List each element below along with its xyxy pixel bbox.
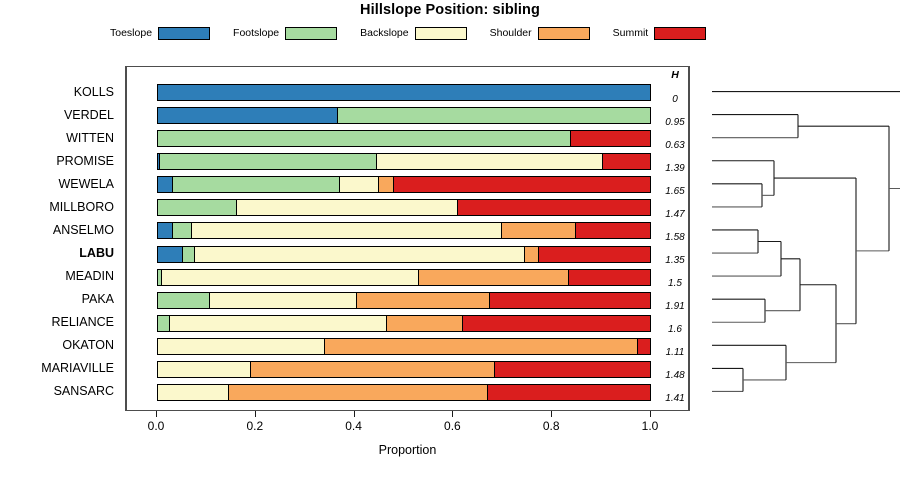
x-axis-tick-label: 0.8 — [531, 419, 571, 433]
x-axis-title: Proportion — [125, 443, 690, 457]
row-label-promise: PROMISE — [0, 154, 120, 168]
legend-item-footslope: Footslope — [233, 27, 337, 40]
bar-segment-summit — [394, 177, 650, 192]
h-value-sansarc: 1.41 — [660, 393, 690, 404]
row-label-kolls: KOLLS — [0, 85, 120, 99]
legend-swatch — [285, 27, 337, 40]
bar-segment-toeslope — [158, 177, 173, 192]
bar-kolls — [157, 84, 651, 101]
legend-item-summit: Summit — [613, 27, 707, 40]
bar-segment-shoulder — [251, 362, 495, 377]
bar-segment-footslope — [183, 247, 195, 262]
bar-segment-shoulder — [325, 339, 637, 354]
x-axis-tick — [452, 411, 453, 417]
bar-segment-shoulder — [379, 177, 394, 192]
legend-swatch — [158, 27, 210, 40]
legend-label: Shoulder — [490, 27, 532, 39]
x-axis-tick — [156, 411, 157, 417]
bar-promise — [157, 153, 651, 170]
bar-reliance — [157, 315, 651, 332]
dendrogram-svg — [690, 60, 900, 415]
bar-segment-backslope — [377, 154, 603, 169]
bar-millboro — [157, 199, 651, 216]
row-label-labu: LABU — [0, 246, 120, 260]
bar-segment-shoulder — [357, 293, 490, 308]
bar-segment-summit — [576, 223, 650, 238]
bar-segment-backslope — [340, 177, 379, 192]
h-value-labu: 1.35 — [660, 255, 690, 266]
x-axis-tick — [255, 411, 256, 417]
bar-segment-summit — [638, 339, 650, 354]
bar-paka — [157, 292, 651, 309]
x-axis-tick-label: 1.0 — [630, 419, 670, 433]
h-value-verdel: 0.95 — [660, 117, 690, 128]
bar-segment-backslope — [158, 362, 251, 377]
bar-segment-footslope — [160, 154, 376, 169]
bar-segment-footslope — [173, 177, 340, 192]
bar-segment-footslope — [338, 108, 650, 123]
h-value-anselmo: 1.58 — [660, 232, 690, 243]
row-label-anselmo: ANSELMO — [0, 223, 120, 237]
bar-segment-shoulder — [525, 247, 540, 262]
x-axis-tick-label: 0.2 — [235, 419, 275, 433]
bar-segment-toeslope — [158, 85, 650, 100]
bar-segment-footslope — [158, 293, 210, 308]
legend-swatch — [538, 27, 590, 40]
bar-segment-toeslope — [158, 108, 338, 123]
h-value-paka: 1.91 — [660, 301, 690, 312]
row-label-witten: WITTEN — [0, 131, 120, 145]
legend-swatch — [415, 27, 467, 40]
row-label-meadin: MEADIN — [0, 269, 120, 283]
bar-mariaville — [157, 361, 651, 378]
h-value-millboro: 1.47 — [660, 209, 690, 220]
bar-okaton — [157, 338, 651, 355]
bar-meadin — [157, 269, 651, 286]
bar-segment-backslope — [192, 223, 502, 238]
h-value-promise: 1.39 — [660, 163, 690, 174]
h-value-witten: 0.63 — [660, 140, 690, 151]
bar-segment-summit — [488, 385, 650, 400]
bar-segment-backslope — [158, 339, 325, 354]
bar-segment-backslope — [162, 270, 419, 285]
bar-segment-summit — [490, 293, 650, 308]
row-label-paka: PAKA — [0, 292, 120, 306]
bar-segment-summit — [603, 154, 650, 169]
row-label-reliance: RELIANCE — [0, 315, 120, 329]
dendrogram — [690, 60, 900, 415]
h-value-okaton: 1.11 — [660, 347, 690, 358]
row-label-mariaville: MARIAVILLE — [0, 361, 120, 375]
x-axis-tick — [650, 411, 651, 417]
bar-segment-backslope — [210, 293, 358, 308]
bar-segment-shoulder — [419, 270, 569, 285]
h-value-wewela: 1.65 — [660, 186, 690, 197]
row-label-verdel: VERDEL — [0, 108, 120, 122]
x-axis-tick-label: 0.6 — [432, 419, 472, 433]
h-value-meadin: 1.5 — [660, 278, 690, 289]
bar-segment-summit — [571, 131, 650, 146]
h-column-header: H — [660, 70, 690, 81]
legend-label: Backslope — [360, 27, 408, 39]
bar-segment-summit — [569, 270, 650, 285]
x-axis-tick — [354, 411, 355, 417]
bar-segment-footslope — [158, 200, 237, 215]
row-label-wewela: WEWELA — [0, 177, 120, 191]
bar-segment-summit — [458, 200, 650, 215]
legend-label: Toeslope — [110, 27, 152, 39]
bar-anselmo — [157, 222, 651, 239]
chart-legend: ToeslopeFootslopeBackslopeShoulderSummit — [110, 24, 790, 42]
bar-segment-summit — [539, 247, 650, 262]
bar-segment-shoulder — [229, 385, 487, 400]
bar-segment-backslope — [170, 316, 386, 331]
bar-segment-footslope — [158, 131, 571, 146]
x-axis-tick-label: 0.0 — [136, 419, 176, 433]
x-axis-tick-label: 0.4 — [334, 419, 374, 433]
page-title: Hillslope Position: sibling — [0, 2, 900, 18]
bar-segment-footslope — [158, 316, 170, 331]
row-label-millboro: MILLBORO — [0, 200, 120, 214]
bar-segment-shoulder — [502, 223, 576, 238]
bar-verdel — [157, 107, 651, 124]
bar-segment-summit — [463, 316, 650, 331]
legend-swatch — [654, 27, 706, 40]
x-axis: 0.00.20.40.60.81.0 — [125, 411, 690, 441]
legend-item-toeslope: Toeslope — [110, 27, 210, 40]
bar-sansarc — [157, 384, 651, 401]
bar-segment-toeslope — [158, 247, 183, 262]
bar-segment-summit — [495, 362, 650, 377]
row-label-okaton: OKATON — [0, 338, 120, 352]
legend-item-shoulder: Shoulder — [490, 27, 590, 40]
h-value-mariaville: 1.48 — [660, 370, 690, 381]
row-label-column: KOLLSVERDELWITTENPROMISEWEWELAMILLBOROAN… — [0, 66, 120, 411]
bar-labu — [157, 246, 651, 263]
bar-segment-shoulder — [387, 316, 463, 331]
bar-witten — [157, 130, 651, 147]
bar-segment-backslope — [237, 200, 458, 215]
x-axis-tick — [551, 411, 552, 417]
legend-item-backslope: Backslope — [360, 27, 466, 40]
h-value-kolls: 0 — [660, 94, 690, 105]
h-column: H00.950.631.391.651.471.581.351.51.911.6… — [660, 66, 690, 411]
h-value-reliance: 1.6 — [660, 324, 690, 335]
legend-label: Summit — [613, 27, 649, 39]
stacked-bars — [126, 67, 689, 410]
row-label-sansarc: SANSARC — [0, 384, 120, 398]
legend-label: Footslope — [233, 27, 279, 39]
bar-segment-backslope — [195, 247, 525, 262]
chart-plot-area — [125, 66, 690, 411]
bar-segment-footslope — [173, 223, 193, 238]
bar-wewela — [157, 176, 651, 193]
bar-segment-toeslope — [158, 223, 173, 238]
bar-segment-backslope — [158, 385, 229, 400]
